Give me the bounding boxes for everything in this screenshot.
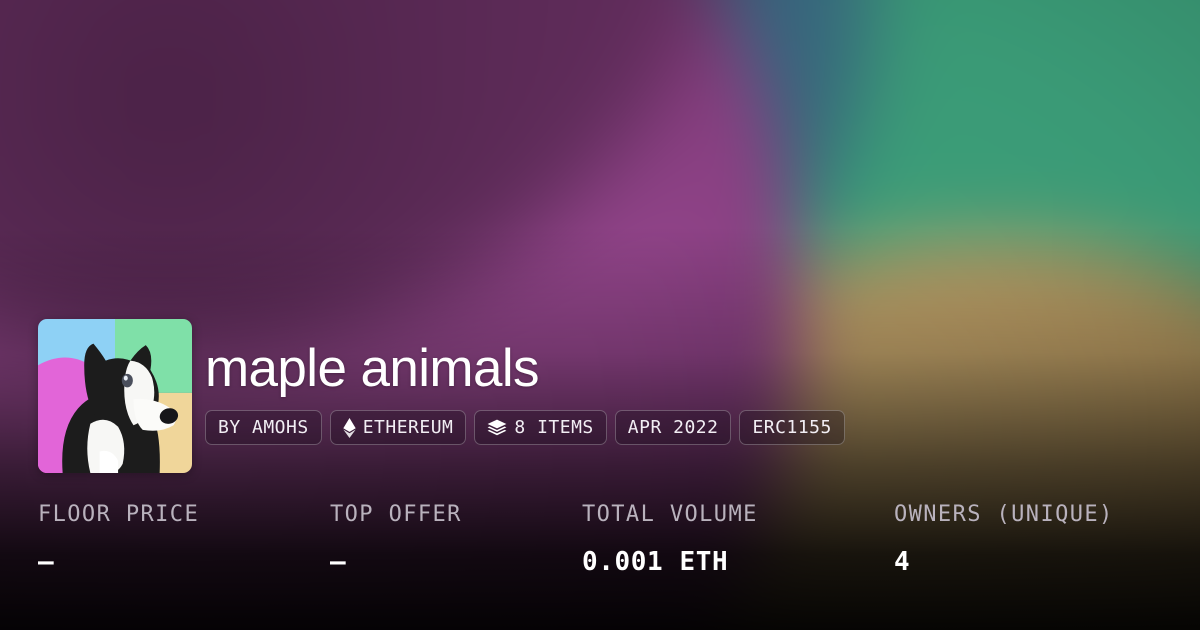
stat-total-volume-label: TOTAL VOLUME: [582, 502, 894, 527]
stat-top-offer-label: TOP OFFER: [330, 502, 582, 527]
badge-chain[interactable]: ETHEREUM: [330, 410, 467, 445]
stat-owners: OWNERS (UNIQUE) 4: [894, 502, 1162, 577]
collection-header: maple animals BY AMOHS ETHEREUM: [205, 336, 845, 445]
badge-items-label: 8 ITEMS: [514, 417, 593, 438]
badge-creator-label: BY AMOHS: [218, 417, 309, 438]
badge-created-date[interactable]: APR 2022: [615, 410, 732, 445]
collection-banner-card: maple animals BY AMOHS ETHEREUM: [0, 0, 1200, 630]
badge-chain-label: ETHEREUM: [363, 417, 454, 438]
badge-items[interactable]: 8 ITEMS: [474, 410, 606, 445]
stat-total-volume: TOTAL VOLUME 0.001 ETH: [582, 502, 894, 577]
stats-row: FLOOR PRICE – TOP OFFER – TOTAL VOLUME 0…: [38, 502, 1162, 577]
stat-top-offer: TOP OFFER –: [330, 502, 582, 577]
badge-row: BY AMOHS ETHEREUM: [205, 410, 845, 445]
badge-created-date-label: APR 2022: [628, 417, 719, 438]
page-title: maple animals: [205, 336, 845, 402]
badge-creator[interactable]: BY AMOHS: [205, 410, 322, 445]
stat-owners-label: OWNERS (UNIQUE): [894, 502, 1162, 527]
layers-icon: [487, 419, 507, 437]
banner-content: maple animals BY AMOHS ETHEREUM: [0, 0, 1200, 630]
stat-total-volume-value: 0.001 ETH: [582, 547, 894, 577]
border-collie-avatar: [38, 319, 192, 473]
stat-top-offer-value: –: [330, 547, 582, 577]
badge-token-standard-label: ERC1155: [752, 417, 831, 438]
ethereum-icon: [343, 418, 356, 438]
collection-avatar[interactable]: [38, 319, 192, 473]
stat-floor-price: FLOOR PRICE –: [38, 502, 330, 577]
stat-floor-price-value: –: [38, 547, 330, 577]
badge-token-standard[interactable]: ERC1155: [739, 410, 844, 445]
stat-owners-value: 4: [894, 547, 1162, 577]
stat-floor-price-label: FLOOR PRICE: [38, 502, 330, 527]
